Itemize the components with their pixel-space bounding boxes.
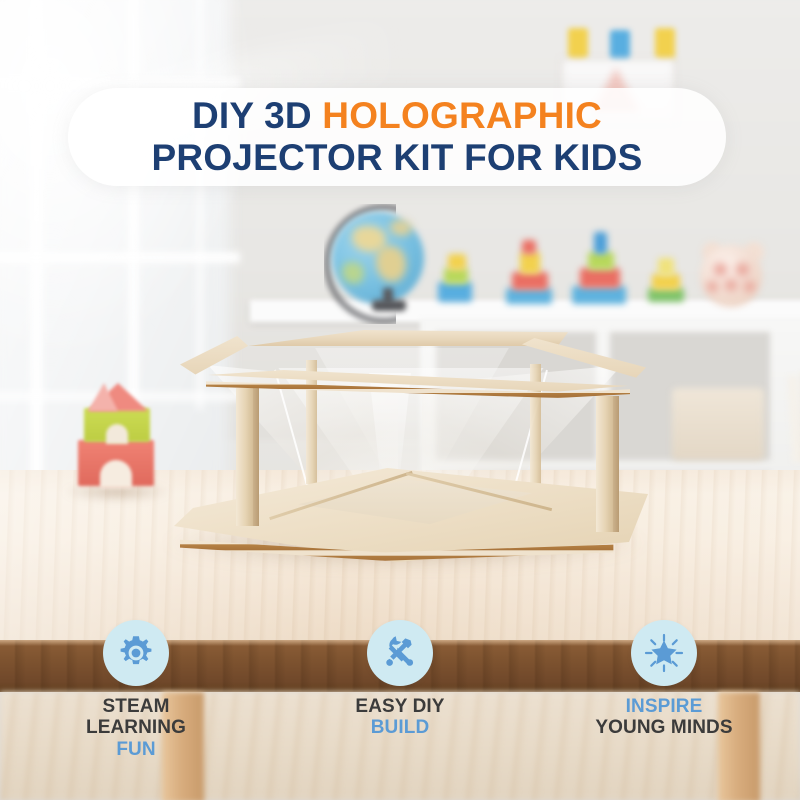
feature-line: FUN bbox=[86, 739, 186, 760]
stacking-toy bbox=[522, 240, 536, 254]
toy-block-arch-opening bbox=[106, 424, 128, 444]
stacking-toy bbox=[658, 258, 674, 276]
frame-post-side bbox=[613, 396, 619, 532]
badge-circle bbox=[631, 620, 697, 686]
globe bbox=[332, 212, 424, 304]
stacking-toy bbox=[572, 286, 626, 304]
toy-block-roof-highlight bbox=[88, 383, 118, 411]
top-frame-back-rail bbox=[228, 330, 568, 346]
globe-stand bbox=[372, 300, 406, 311]
stacking-toy bbox=[652, 274, 680, 290]
feature-steam-learning-fun: STEAM LEARNING FUN bbox=[46, 620, 226, 760]
stacking-toy bbox=[444, 268, 468, 284]
feature-line: EASY DIY bbox=[355, 696, 444, 717]
stacking-toy bbox=[512, 272, 548, 290]
feature-easy-diy-build: EASY DIY BUILD bbox=[310, 620, 490, 739]
title-part-diy3d: DIY 3D bbox=[192, 95, 322, 136]
feature-label: EASY DIY BUILD bbox=[355, 696, 444, 739]
feature-line: YOUNG MINDS bbox=[595, 717, 732, 738]
title-banner: DIY 3D HOLOGRAPHIC PROJECTOR KIT FOR KID… bbox=[68, 88, 726, 186]
title-part-holographic: HOLOGRAPHIC bbox=[322, 95, 602, 136]
teddy-bear bbox=[700, 245, 762, 307]
badge-circle bbox=[367, 620, 433, 686]
frame-post-front-left bbox=[236, 388, 253, 526]
books bbox=[790, 370, 800, 462]
stacking-toy bbox=[448, 254, 466, 270]
storage-basket bbox=[672, 388, 764, 460]
badge-circle bbox=[103, 620, 169, 686]
holographic-projector-product bbox=[170, 318, 650, 568]
title-line-1: DIY 3D HOLOGRAPHIC bbox=[192, 97, 602, 135]
feature-line: LEARNING bbox=[86, 717, 186, 738]
bunting-flag bbox=[568, 28, 588, 62]
stacking-toy bbox=[588, 252, 614, 270]
feature-inspire-young-minds: INSPIRE YOUNG MINDS bbox=[574, 620, 754, 739]
frame-post-side bbox=[253, 388, 259, 526]
frame-post-front-right bbox=[596, 396, 613, 532]
wrench-hammer-icon bbox=[380, 633, 420, 673]
feature-line: STEAM bbox=[86, 696, 186, 717]
feature-label: STEAM LEARNING FUN bbox=[86, 696, 186, 760]
stacking-toy bbox=[580, 268, 620, 288]
shining-star-icon bbox=[643, 632, 685, 674]
feature-badges: STEAM LEARNING FUN bbox=[0, 620, 800, 790]
stacking-toy bbox=[506, 288, 552, 304]
gear-icon bbox=[116, 633, 156, 673]
toy-block-arch-opening bbox=[100, 460, 132, 488]
title-line-2: PROJECTOR KIT FOR KIDS bbox=[152, 139, 643, 177]
feature-label: INSPIRE YOUNG MINDS bbox=[595, 696, 732, 739]
stacking-toy bbox=[438, 282, 472, 302]
feature-line: BUILD bbox=[355, 717, 444, 738]
stacking-toy bbox=[520, 252, 540, 274]
stacking-toy bbox=[594, 232, 607, 254]
feature-line: INSPIRE bbox=[595, 696, 732, 717]
bunting-flag bbox=[655, 28, 675, 62]
stacking-toy bbox=[648, 288, 684, 302]
product-marketing-image: DIY 3D HOLOGRAPHIC PROJECTOR KIT FOR KID… bbox=[0, 0, 800, 800]
